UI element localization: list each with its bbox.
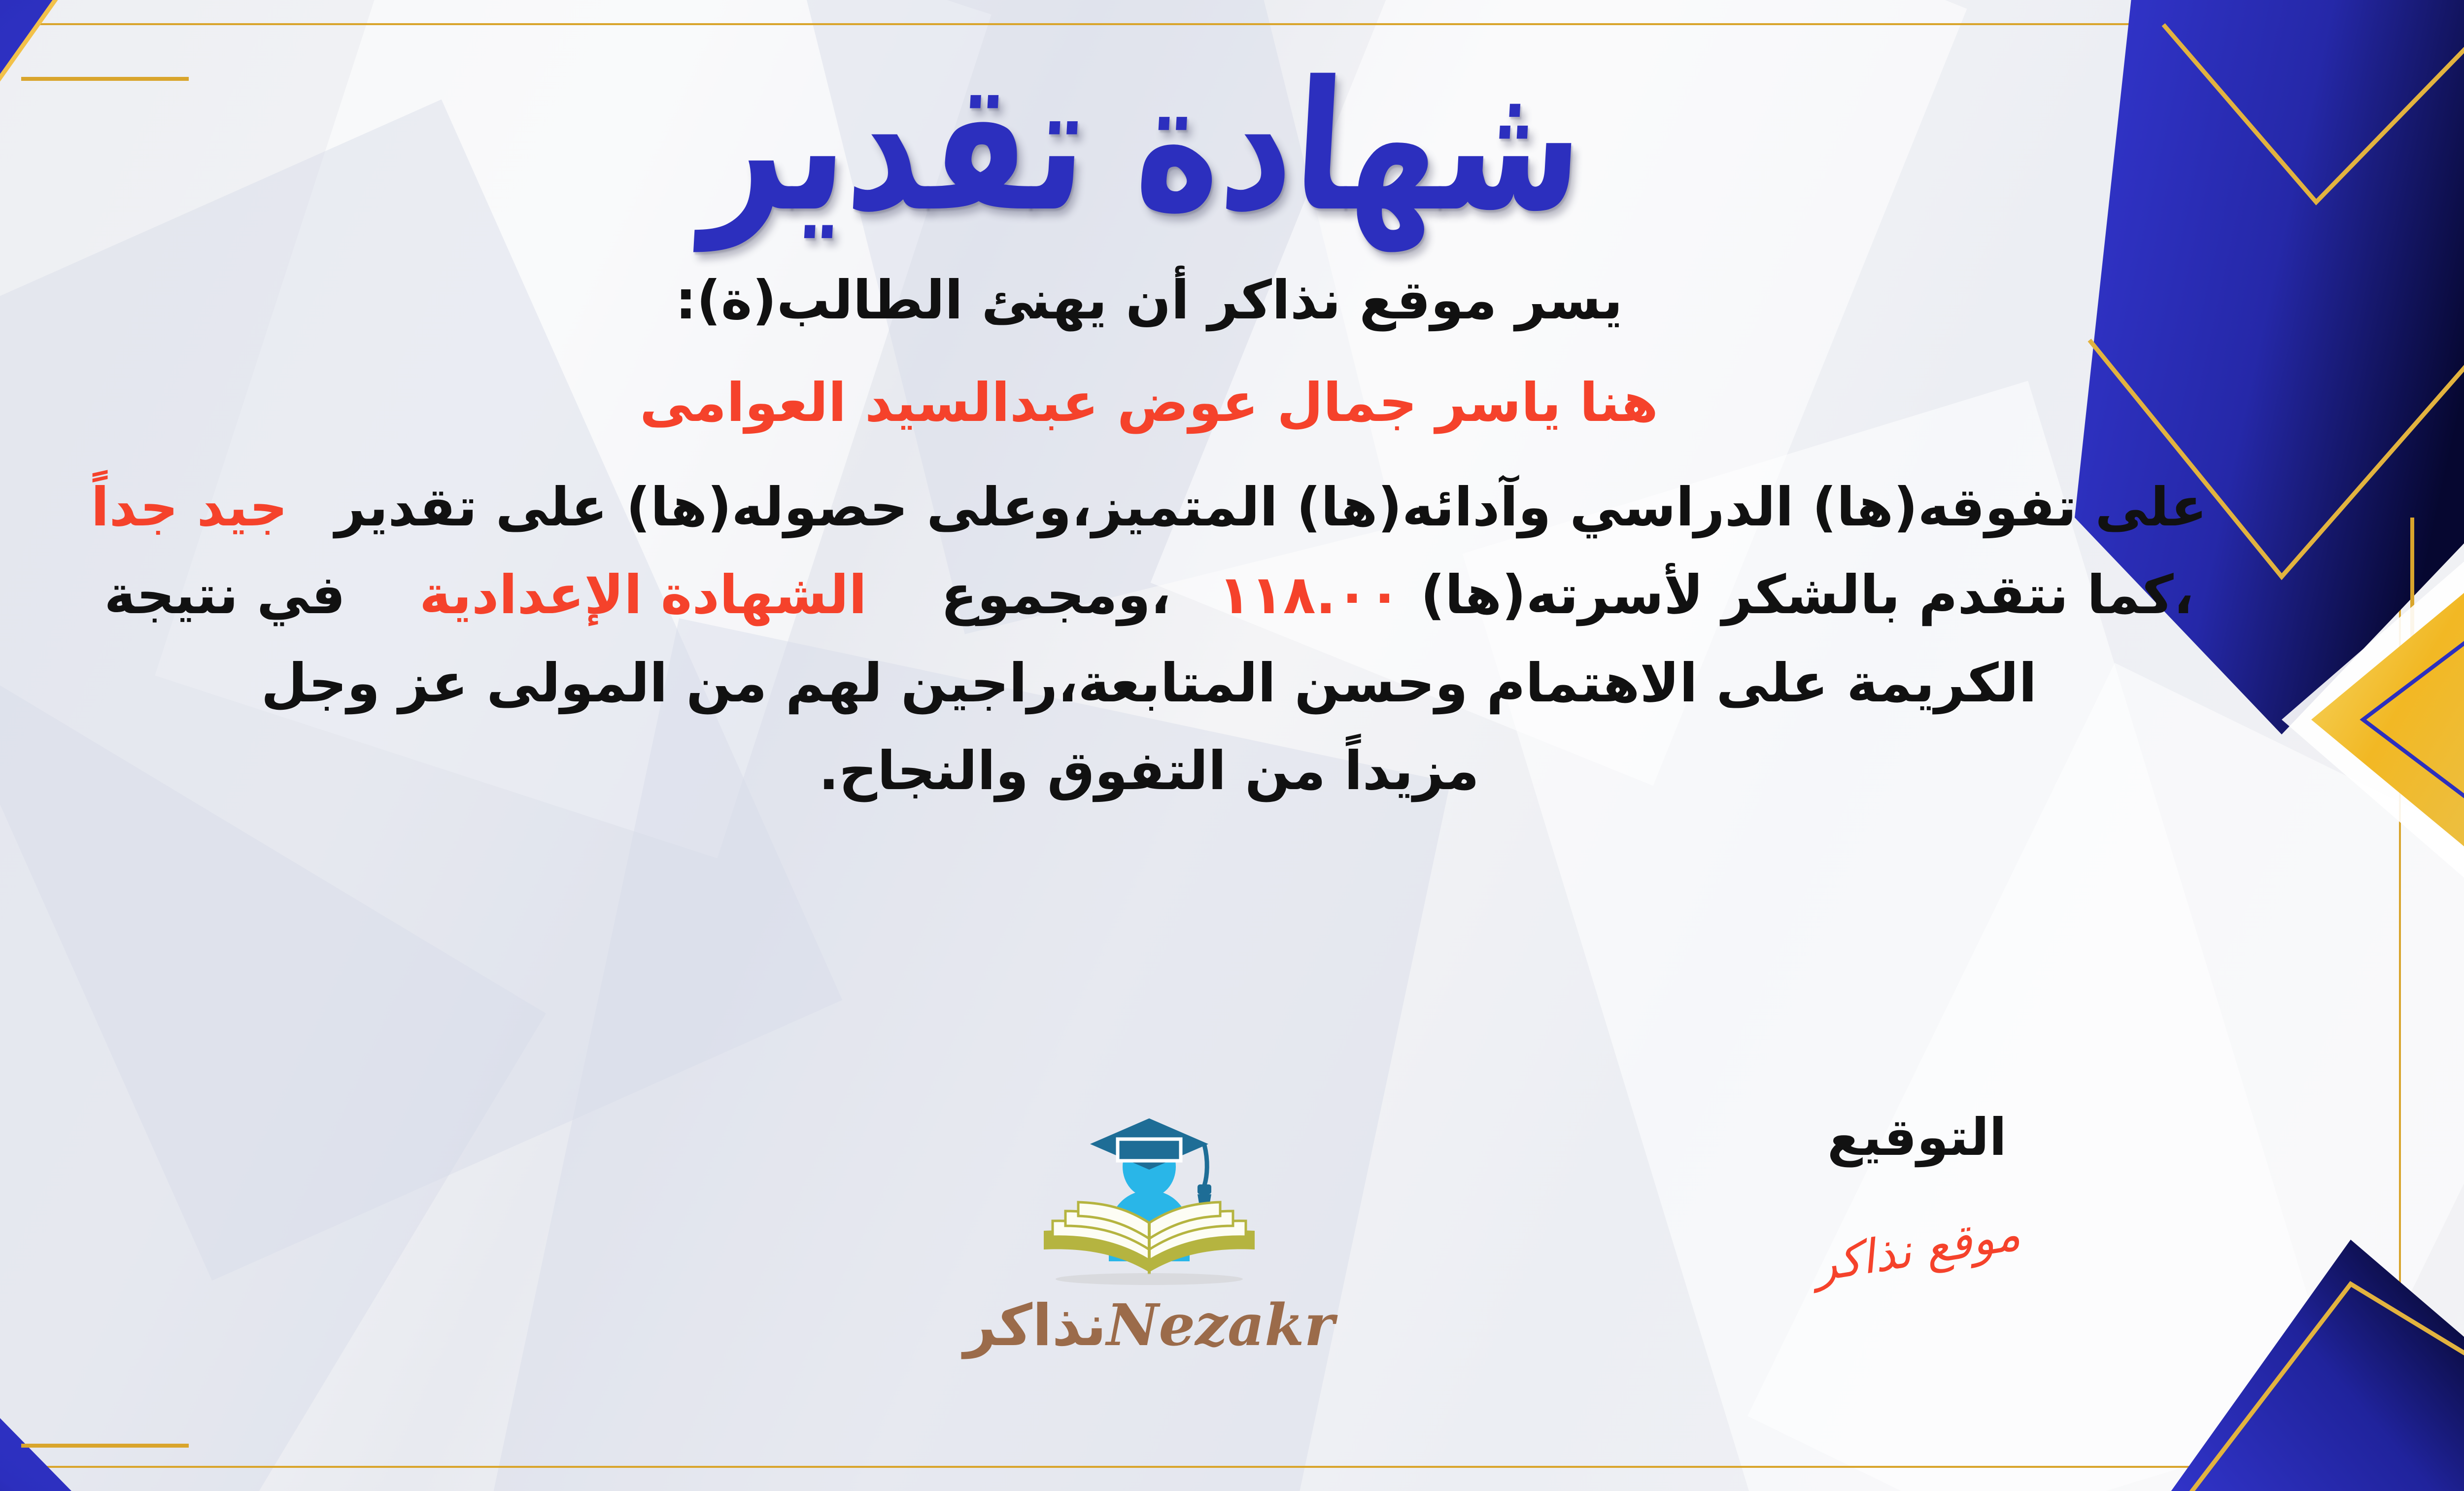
certificate-footer: التوقيع موقع نذاكر (0, 1111, 2464, 1417)
brand-wordmark: Nezakrنذاكر (927, 1297, 1371, 1354)
result-text-b: ،ومجموع (941, 555, 1171, 636)
result-text-a: في نتيجة (104, 555, 345, 636)
brand-logo: Nezakrنذاكر (927, 1107, 1371, 1354)
certificate-title: شهادة تقدير (700, 58, 1588, 237)
result-line: ،كما نتقدم بالشكر لأسرته(ها) ١١٨.٠٠ ،ومج… (28, 555, 2270, 636)
certificate-body: يسر موقع نذاكر أن يهنئ الطالب(ة): هنا يا… (28, 260, 2270, 817)
brand-latin: Nezakr (1106, 1292, 1334, 1359)
brand-arabic: نذاكر (963, 1292, 1106, 1359)
graduate-open-book-icon (1011, 1107, 1287, 1294)
signature-script: موقع نذاكر (1811, 1211, 2023, 1289)
signature-block: التوقيع موقع نذاكر (1745, 1111, 2089, 1273)
certificate-page: شهادة تقدير يسر موقع نذاكر أن يهنئ الطال… (0, 0, 2464, 1491)
grade-value: جيد جداً (91, 467, 288, 548)
gratitude-line: الكريمة على الاهتمام وحسن المتابعة،راجين… (28, 643, 2270, 724)
intro-line: يسر موقع نذاكر أن يهنئ الطالب(ة): (28, 260, 2270, 341)
achievement-text: على تفوقه(ها) الدراسي وآدائه(ها) المتميز… (335, 467, 2207, 548)
closing-line: مزيداً من التفوق والنجاح. (28, 731, 2270, 812)
signature-label: التوقيع (1745, 1111, 2089, 1163)
achievement-line: على تفوقه(ها) الدراسي وآدائه(ها) المتميز… (28, 467, 2270, 548)
result-text-c: ،كما نتقدم بالشكر لأسرته(ها) (1421, 555, 2194, 636)
certificate-content: شهادة تقدير يسر موقع نذاكر أن يهنئ الطال… (0, 0, 2464, 1491)
total-score: ١١٨.٠٠ (1218, 555, 1401, 636)
exam-name: الشهادة الإعدادية (419, 555, 867, 636)
student-name: هنا ياسر جمال عوض عبدالسيد العوامى (28, 363, 2270, 444)
